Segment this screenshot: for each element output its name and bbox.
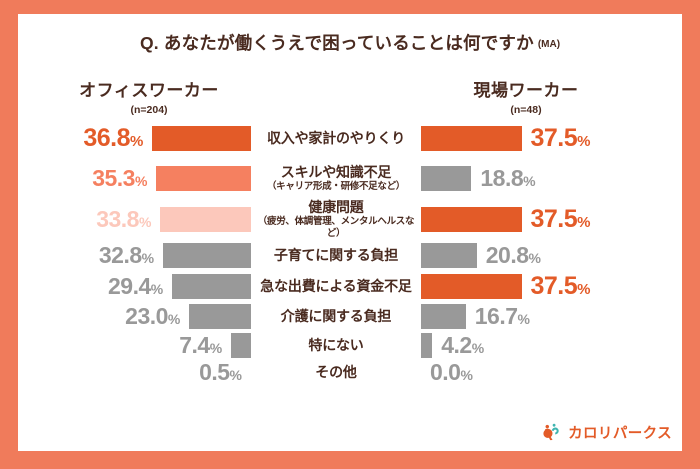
value-label-field-worker: 0.0% (430, 361, 473, 384)
category-label: 特にない (251, 337, 421, 353)
category-label: 急な出費による資金不足 (251, 278, 421, 294)
infographic-panel: Q. あなたが働くうえで困っていることは何ですか(MA) オフィスワーカー (n… (18, 14, 682, 451)
bar-office-worker (163, 243, 251, 268)
value-label-field-worker: 37.5% (531, 207, 591, 232)
percent-sign: % (460, 367, 472, 383)
category-label-main: その他 (253, 364, 419, 380)
group-header-field-worker: 現場ワーカー (n=48) (411, 76, 641, 116)
percent-sign: % (139, 214, 151, 230)
title-multiple-answer-note: (MA) (538, 39, 560, 50)
category-label: 介護に関する負担 (251, 308, 421, 324)
value-label-office-worker: 33.8% (96, 208, 151, 231)
value-label-field-worker: 37.5% (531, 274, 591, 299)
category-label-main: 急な出費による資金不足 (253, 278, 419, 294)
chart-rows: 36.8%収入や家計のやりくり37.5%35.3%スキルや知識不足（キャリア形成… (18, 118, 682, 385)
value-label-field-worker: 37.5% (531, 126, 591, 151)
value-number: 7.4 (179, 332, 209, 358)
row-left-office-worker: 0.5% (18, 361, 251, 384)
chart-row: 29.4%急な出費による資金不足37.5% (18, 271, 682, 301)
chart-row: 23.0%介護に関する負担16.7% (18, 301, 682, 331)
chart-row: 35.3%スキルや知識不足（キャリア形成・研修不足など）18.8% (18, 158, 682, 198)
value-number: 37.5 (531, 272, 578, 300)
bar-field-worker (421, 126, 522, 151)
category-label-sub: （疲労、体調管理、メンタルヘルスなど） (253, 216, 419, 239)
row-right-field-worker: 0.0% (421, 361, 654, 384)
chart-row: 32.8%子育てに関する負担20.8% (18, 240, 682, 271)
bar-field-worker (421, 304, 466, 329)
chart-row: 0.5%その他0.0% (18, 359, 682, 385)
value-number: 4.2 (441, 332, 471, 358)
bar-office-worker (231, 333, 251, 358)
bar-field-worker (421, 243, 477, 268)
value-label-office-worker: 23.0% (125, 305, 180, 328)
row-right-field-worker: 18.8% (421, 166, 654, 191)
row-right-field-worker: 20.8% (421, 243, 654, 268)
value-label-field-worker: 4.2% (441, 334, 484, 357)
value-label-office-worker: 32.8% (99, 244, 154, 267)
percent-sign: % (135, 173, 147, 189)
value-number: 33.8 (96, 206, 139, 232)
value-label-office-worker: 29.4% (108, 275, 163, 298)
percent-sign: % (230, 367, 242, 383)
row-right-field-worker: 37.5% (421, 274, 654, 299)
percent-sign: % (151, 281, 163, 297)
category-label-main: スキルや知識不足 (253, 164, 419, 180)
category-label: 子育てに関する負担 (251, 247, 421, 263)
percent-sign: % (168, 311, 180, 327)
percent-sign: % (577, 281, 590, 298)
row-left-office-worker: 29.4% (18, 274, 251, 299)
calorie-parks-logo-icon (540, 421, 562, 443)
value-number: 16.7 (475, 303, 518, 329)
row-right-field-worker: 37.5% (421, 207, 654, 232)
brand-logo[interactable]: カロリパークス (540, 421, 672, 443)
row-left-office-worker: 23.0% (18, 304, 251, 329)
bar-office-worker (160, 207, 251, 232)
value-number: 36.8 (83, 124, 130, 152)
row-left-office-worker: 33.8% (18, 207, 251, 232)
percent-sign: % (518, 311, 530, 327)
value-number: 37.5 (531, 205, 578, 233)
category-label: 健康問題（疲労、体調管理、メンタルヘルスなど） (251, 199, 421, 239)
value-label-office-worker: 35.3% (92, 167, 147, 190)
category-label: その他 (251, 364, 421, 380)
value-number: 32.8 (99, 242, 142, 268)
category-label: スキルや知識不足（キャリア形成・研修不足など） (251, 164, 421, 192)
group-sample-field-worker: (n=48) (411, 104, 641, 116)
bar-field-worker (421, 166, 471, 191)
percent-sign: % (529, 250, 541, 266)
bar-field-worker (421, 207, 522, 232)
value-number: 23.0 (125, 303, 168, 329)
value-number: 37.5 (531, 124, 578, 152)
category-label-main: 介護に関する負担 (253, 308, 419, 324)
brand-logo-text: カロリパークス (568, 422, 672, 443)
percent-sign: % (472, 340, 484, 356)
row-left-office-worker: 32.8% (18, 243, 251, 268)
page-title: Q. あなたが働くうえで困っていることは何ですか(MA) (18, 30, 682, 55)
bar-field-worker (421, 333, 432, 358)
infographic-frame: Q. あなたが働くうえで困っていることは何ですか(MA) オフィスワーカー (n… (0, 0, 700, 469)
chart-row: 7.4%特にない4.2% (18, 331, 682, 359)
chart-row: 33.8%健康問題（疲労、体調管理、メンタルヘルスなど）37.5% (18, 198, 682, 240)
row-left-office-worker: 7.4% (18, 333, 251, 358)
row-right-field-worker: 37.5% (421, 126, 654, 151)
percent-sign: % (577, 133, 590, 150)
value-number: 18.8 (480, 165, 523, 191)
chart-row: 36.8%収入や家計のやりくり37.5% (18, 118, 682, 158)
category-label-sub: （キャリア形成・研修不足など） (253, 181, 419, 192)
percent-sign: % (142, 250, 154, 266)
category-label: 収入や家計のやりくり (251, 130, 421, 146)
group-name-office-worker: オフィスワーカー (34, 76, 264, 101)
value-label-field-worker: 20.8% (486, 244, 541, 267)
row-right-field-worker: 4.2% (421, 333, 654, 358)
category-label-main: 収入や家計のやりくり (253, 130, 419, 146)
bar-office-worker (189, 304, 251, 329)
value-number: 35.3 (92, 165, 135, 191)
bar-field-worker (421, 274, 522, 299)
percent-sign: % (523, 173, 535, 189)
group-name-field-worker: 現場ワーカー (411, 76, 641, 101)
title-text: Q. あなたが働くうえで困っていることは何ですか (140, 33, 534, 53)
value-number: 29.4 (108, 273, 151, 299)
value-number: 0.5 (199, 359, 229, 385)
bar-office-worker (156, 166, 251, 191)
value-label-field-worker: 18.8% (480, 167, 535, 190)
value-label-field-worker: 16.7% (475, 305, 530, 328)
category-label-main: 子育てに関する負担 (253, 247, 419, 263)
value-label-office-worker: 7.4% (179, 334, 222, 357)
group-sample-office-worker: (n=204) (34, 104, 264, 116)
row-right-field-worker: 16.7% (421, 304, 654, 329)
row-left-office-worker: 35.3% (18, 166, 251, 191)
value-number: 20.8 (486, 242, 529, 268)
category-label-main: 健康問題 (253, 199, 419, 215)
value-label-office-worker: 0.5% (199, 361, 242, 384)
category-label-main: 特にない (253, 337, 419, 353)
bar-office-worker (172, 274, 251, 299)
percent-sign: % (577, 214, 590, 231)
percent-sign: % (210, 340, 222, 356)
value-label-office-worker: 36.8% (83, 126, 143, 151)
value-number: 0.0 (430, 359, 460, 385)
percent-sign: % (130, 133, 143, 150)
group-header-office-worker: オフィスワーカー (n=204) (34, 76, 264, 116)
row-left-office-worker: 36.8% (18, 126, 251, 151)
bar-office-worker (152, 126, 251, 151)
